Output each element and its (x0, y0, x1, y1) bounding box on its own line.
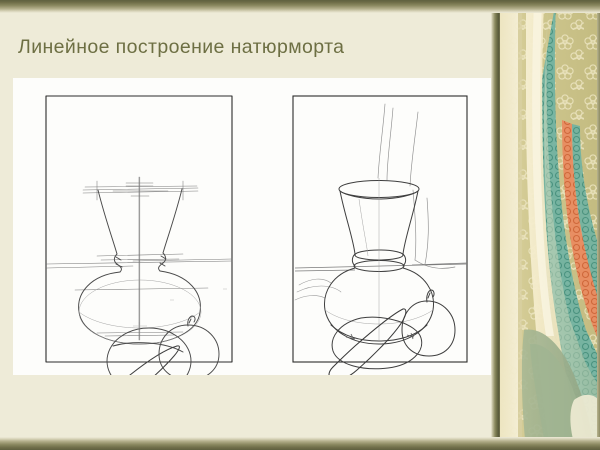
drawing-right-refined (275, 78, 495, 375)
drawing-left-construction (13, 78, 275, 375)
content-panel (13, 78, 495, 375)
slide: Линейное построение натюрморта (0, 0, 600, 450)
slide-title: Линейное построение натюрморта (18, 36, 458, 59)
border-divider (491, 0, 500, 450)
decorative-border (500, 0, 600, 450)
